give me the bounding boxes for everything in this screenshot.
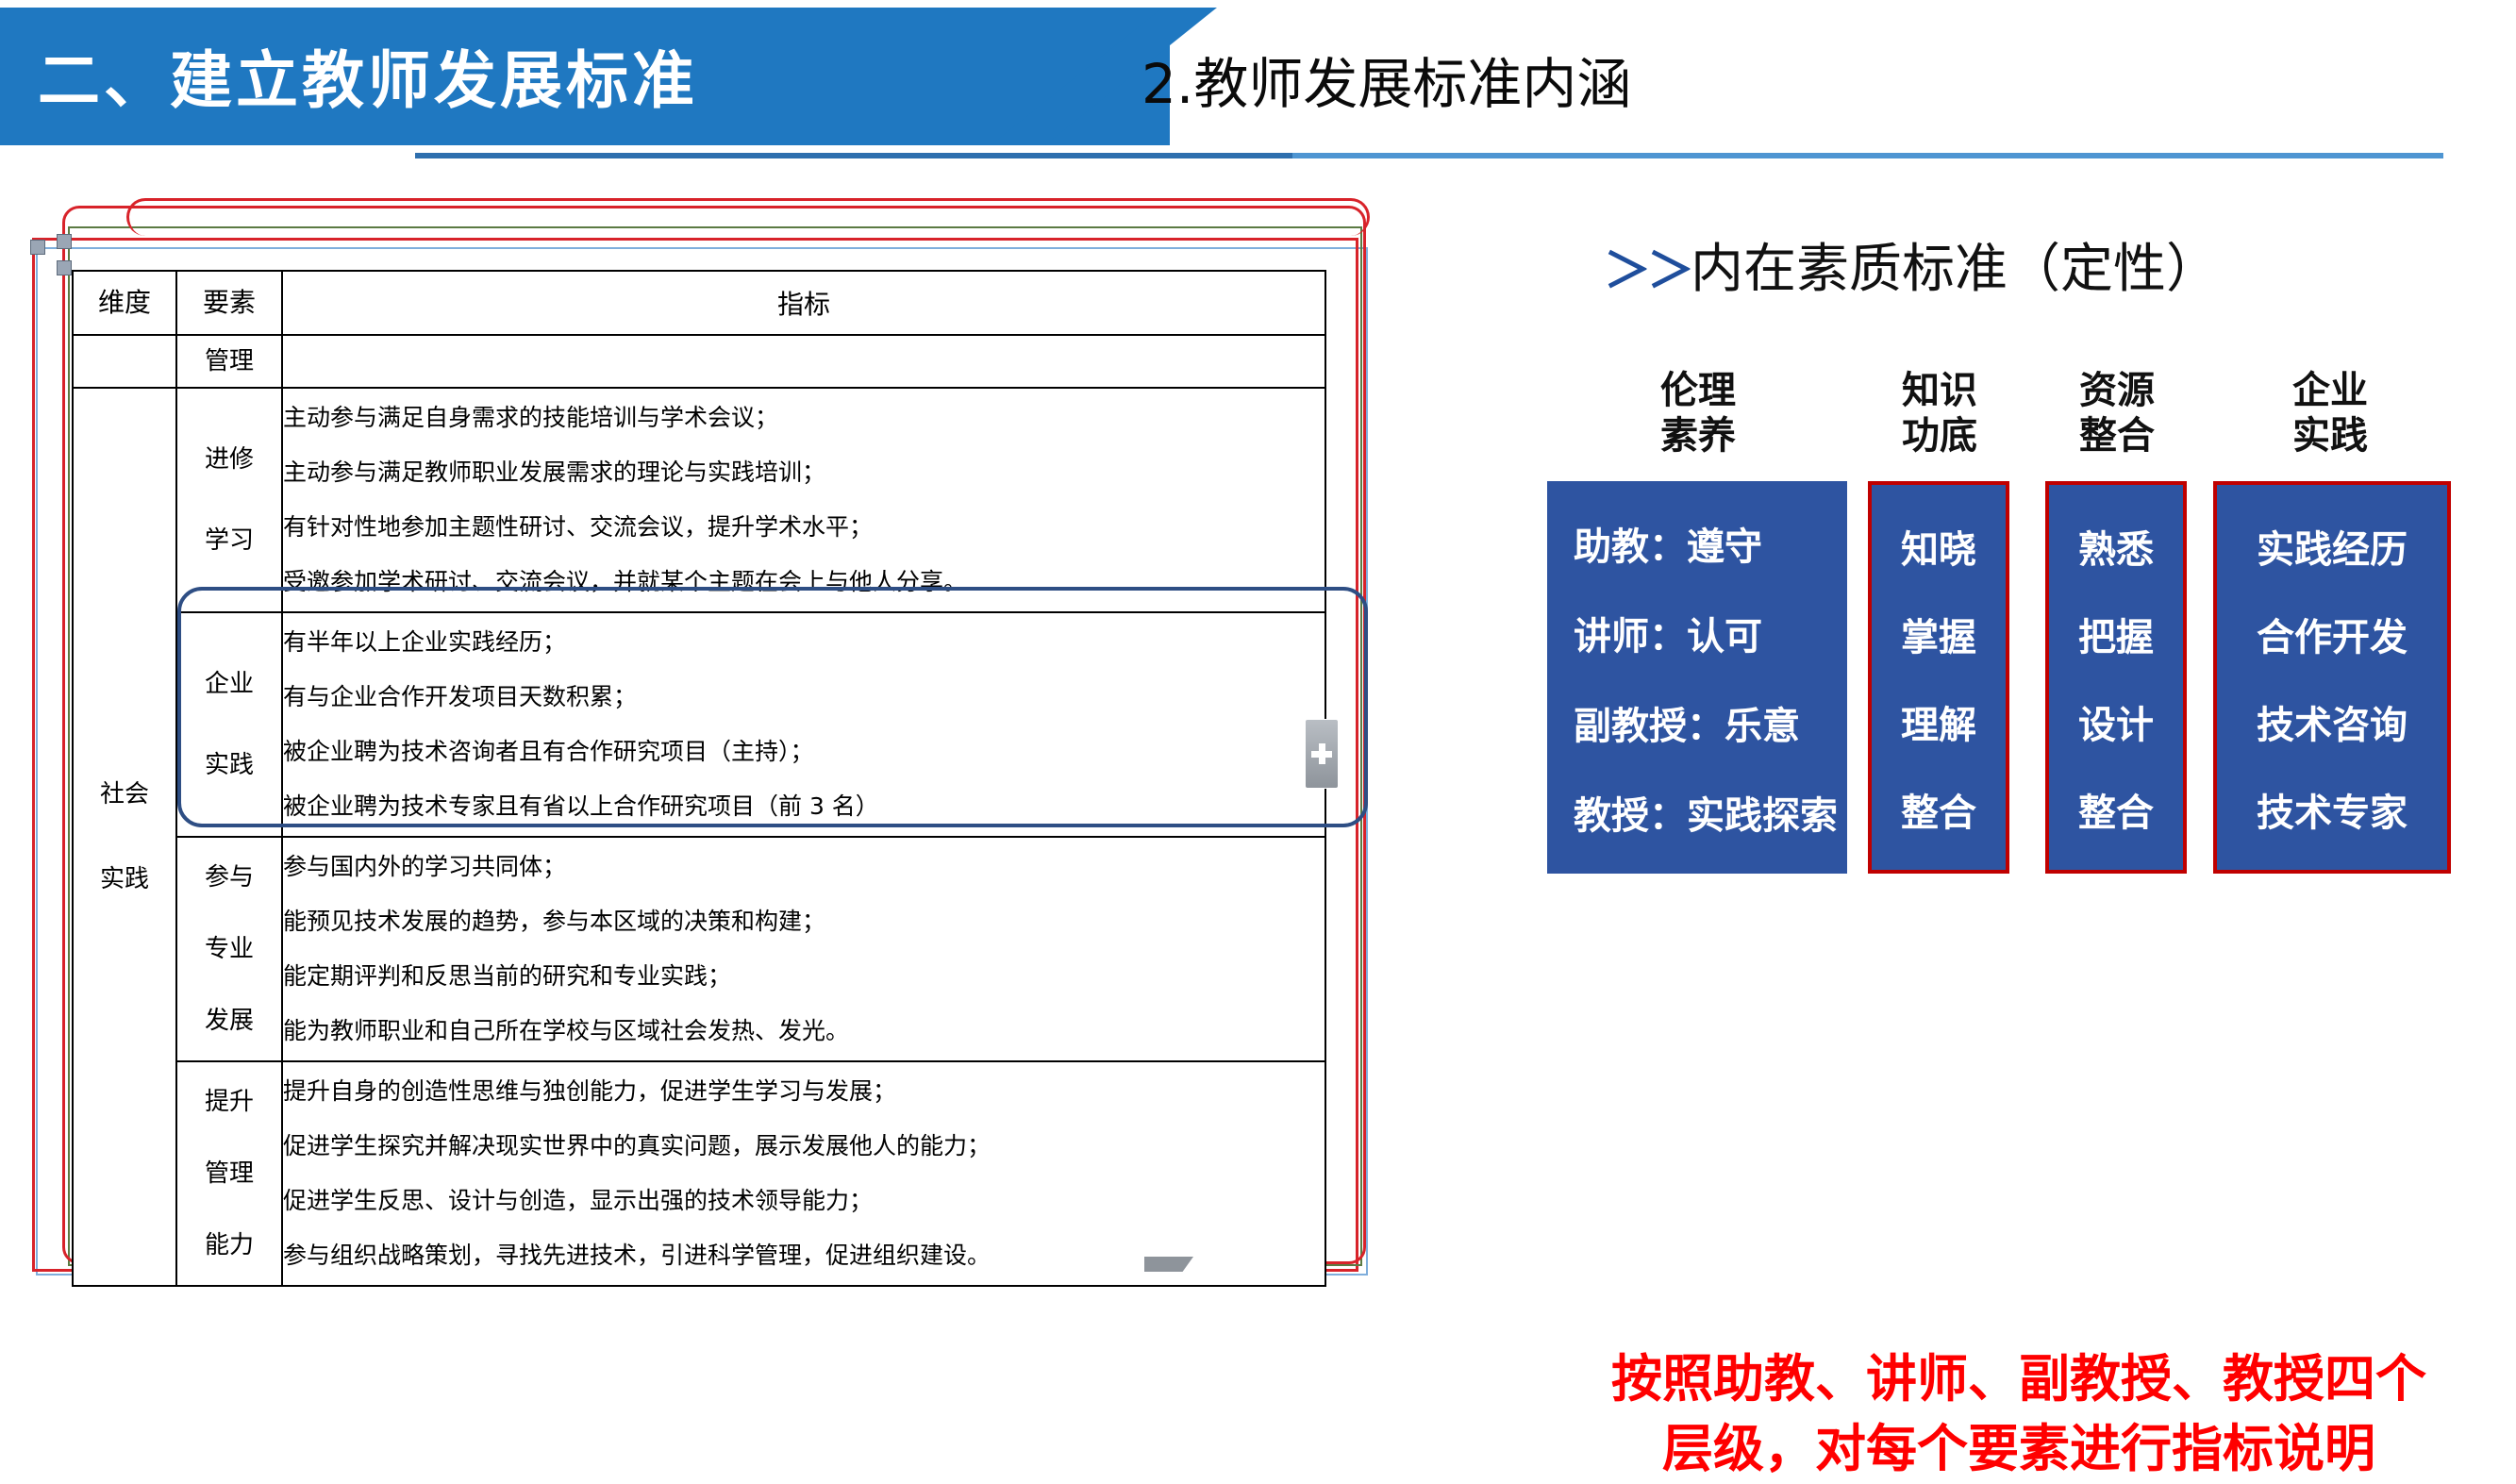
column-title-line-1: 知识 (1864, 368, 2015, 413)
value-item: 合作开发 (2257, 607, 2408, 661)
cell-dimension-partial (73, 335, 176, 388)
annotation-red-rounded-rect-top (126, 198, 1370, 236)
footnote-line-1: 按照助教、讲师、副教授、教授四个 (1547, 1344, 2491, 1414)
column-title-enterprise: 企业 实践 (2208, 368, 2453, 459)
element-line-1: 提升 (205, 1074, 254, 1130)
indicator-text: 有针对性地参加主题性研讨、交流会议，提升学术水平； (283, 500, 1325, 555)
value-item: 技术咨询 (2257, 694, 2408, 749)
panel-heading-text: 内在素质标准（定性） (1691, 239, 2219, 300)
column-title-ethics: 伦理 素养 (1557, 368, 1840, 459)
column-header-indicator: 指标 (282, 271, 1325, 335)
move-plus-icon (1310, 742, 1333, 765)
standards-table-area[interactable]: 维度 要素 指标 管理 社会 实践 进修 学习 (36, 247, 1375, 1283)
indicator-text: 主动参与满足教师职业发展需求的理论与实践培训； (283, 445, 1325, 500)
element-line-3: 能力 (205, 1217, 254, 1274)
cell-indicator-partial (282, 335, 1325, 388)
annotation-blue-rounded-rect (177, 587, 1368, 827)
value-item: 整合 (2078, 782, 2154, 837)
value-box-ethics[interactable]: 助教：遵守 讲师：认可 副教授：乐意 教授：实践探索 (1547, 481, 1847, 874)
subsection-title: 2.教师发展标准内涵 (1141, 40, 1631, 119)
footnote-callout: 按照助教、讲师、副教授、教授四个 层级，对每个要素进行指标说明 (1547, 1344, 2491, 1484)
indicator-text: 促进学生探究并解决现实世界中的真实问题，展示发展他人的能力； (283, 1119, 1325, 1174)
section-title: 二、建立教师发展标准 (38, 30, 698, 121)
column-title-line-1: 伦理 (1557, 368, 1840, 413)
value-item: 熟悉 (2078, 519, 2154, 574)
value-item: 知晓 (1901, 519, 1976, 574)
indicator-text: 能定期评判和反思当前的研究和专业实践； (283, 949, 1325, 1004)
column-header-element: 要素 (176, 271, 282, 335)
table-row[interactable]: 参与 专业 发展 参与国内外的学习共同体； 能预见技术发展的趋势，参与本区域的决… (73, 837, 1325, 1061)
resize-handle-top-left[interactable] (30, 240, 45, 255)
slide-header: 二、建立教师发展标准 2.教师发展标准内涵 (0, 0, 2516, 160)
indicator-text: 促进学生反思、设计与创造，显示出强的技术领导能力； (283, 1174, 1325, 1228)
cell-indicators-jinxiu: 主动参与满足自身需求的技能培训与学术会议； 主动参与满足教师职业发展需求的理论与… (282, 388, 1325, 612)
value-item: 掌握 (1901, 607, 1976, 661)
indicator-text: 参与组织战略策划，寻找先进技术，引进科学管理，促进组织建设。 (283, 1228, 1325, 1283)
cell-element-canyu: 参与 专业 发展 (176, 837, 282, 1061)
element-line-2: 管理 (205, 1145, 254, 1202)
dimension-line-1: 社会 (100, 764, 149, 825)
column-title-line-2: 素养 (1557, 413, 1840, 459)
indicator-text: 参与国内外的学习共同体； (283, 840, 1325, 894)
chevron-right-icon: ＞＞ (1604, 243, 1691, 298)
cell-dimension-social-practice: 社会 实践 (73, 388, 176, 1286)
table-row[interactable]: 社会 实践 进修 学习 主动参与满足自身需求的技能培训与学术会议； 主动参与满足… (73, 388, 1325, 612)
column-title-line-2: 实践 (2208, 413, 2453, 459)
column-title-line-1: 企业 (2208, 368, 2453, 413)
element-line-1: 进修 (205, 431, 254, 488)
value-item: 把握 (2078, 607, 2154, 661)
value-item: 教授：实践探索 (1574, 785, 1838, 840)
value-item: 设计 (2078, 694, 2154, 749)
cell-indicators-canyu: 参与国内外的学习共同体； 能预见技术发展的趋势，参与本区域的决策和构建； 能定期… (282, 837, 1325, 1061)
element-line-1: 参与 (205, 849, 254, 906)
value-item: 技术专家 (2257, 782, 2408, 837)
indicator-text: 提升自身的创造性思维与独创能力，促进学生学习与发展； (283, 1064, 1325, 1119)
panel-heading: ＞＞内在素质标准（定性） (1604, 226, 2219, 303)
value-item: 整合 (1901, 782, 1976, 837)
value-item: 讲师：认可 (1574, 606, 1762, 660)
value-item: 理解 (1901, 694, 1976, 749)
header-rule-right (1292, 153, 2443, 158)
column-title-line-2: 整合 (2041, 413, 2192, 459)
column-title-line-2: 功底 (1864, 413, 2015, 459)
header-rule-left (415, 153, 1292, 158)
resize-handle-top[interactable] (57, 234, 72, 249)
table-row[interactable]: 提升 管理 能力 提升自身的创造性思维与独创能力，促进学生学习与发展； 促进学生… (73, 1061, 1325, 1286)
footnote-line-2: 层级，对每个要素进行指标说明 (1547, 1414, 2491, 1484)
table-header-row: 维度 要素 指标 (73, 271, 1325, 335)
dimension-line-2: 实践 (100, 849, 149, 909)
column-title-line-1: 资源 (2041, 368, 2192, 413)
value-box-resources[interactable]: 熟悉 把握 设计 整合 (2045, 481, 2187, 874)
value-item: 副教授：乐意 (1574, 695, 1800, 750)
indicator-text: 主动参与满足自身需求的技能培训与学术会议； (283, 391, 1325, 445)
cell-element-partial: 管理 (176, 335, 282, 388)
element-line-2: 学习 (205, 512, 254, 569)
cell-indicators-tisheng: 提升自身的创造性思维与独创能力，促进学生学习与发展； 促进学生探究并解决现实世界… (282, 1061, 1325, 1286)
value-box-enterprise[interactable]: 实践经历 合作开发 技术咨询 技术专家 (2213, 481, 2451, 874)
element-line-3: 发展 (205, 992, 254, 1049)
resize-handle-left[interactable] (57, 260, 72, 275)
move-handle-icon[interactable] (1305, 719, 1339, 789)
column-header-dimension: 维度 (73, 271, 176, 335)
cell-element-tisheng: 提升 管理 能力 (176, 1061, 282, 1286)
standard-columns: 伦理 素养 助教：遵守 讲师：认可 副教授：乐意 教授：实践探索 知识 功底 知… (1547, 368, 2491, 1274)
indicator-text: 能预见技术发展的趋势，参与本区域的决策和构建； (283, 894, 1325, 949)
value-item: 实践经历 (2257, 519, 2408, 574)
value-item: 助教：遵守 (1574, 516, 1762, 571)
inner-quality-standard-panel: ＞＞内在素质标准（定性） 伦理 素养 助教：遵守 讲师：认可 副教授：乐意 教授… (1547, 226, 2491, 1359)
indicator-text: 能为教师职业和自己所在学校与区域社会发热、发光。 (283, 1004, 1325, 1059)
column-title-knowledge: 知识 功底 (1864, 368, 2015, 459)
table-row-partial[interactable]: 管理 (73, 335, 1325, 388)
element-line-2: 专业 (205, 921, 254, 977)
value-box-knowledge[interactable]: 知晓 掌握 理解 整合 (1868, 481, 2009, 874)
column-title-resources: 资源 整合 (2041, 368, 2192, 459)
cell-element-jinxiu: 进修 学习 (176, 388, 282, 612)
